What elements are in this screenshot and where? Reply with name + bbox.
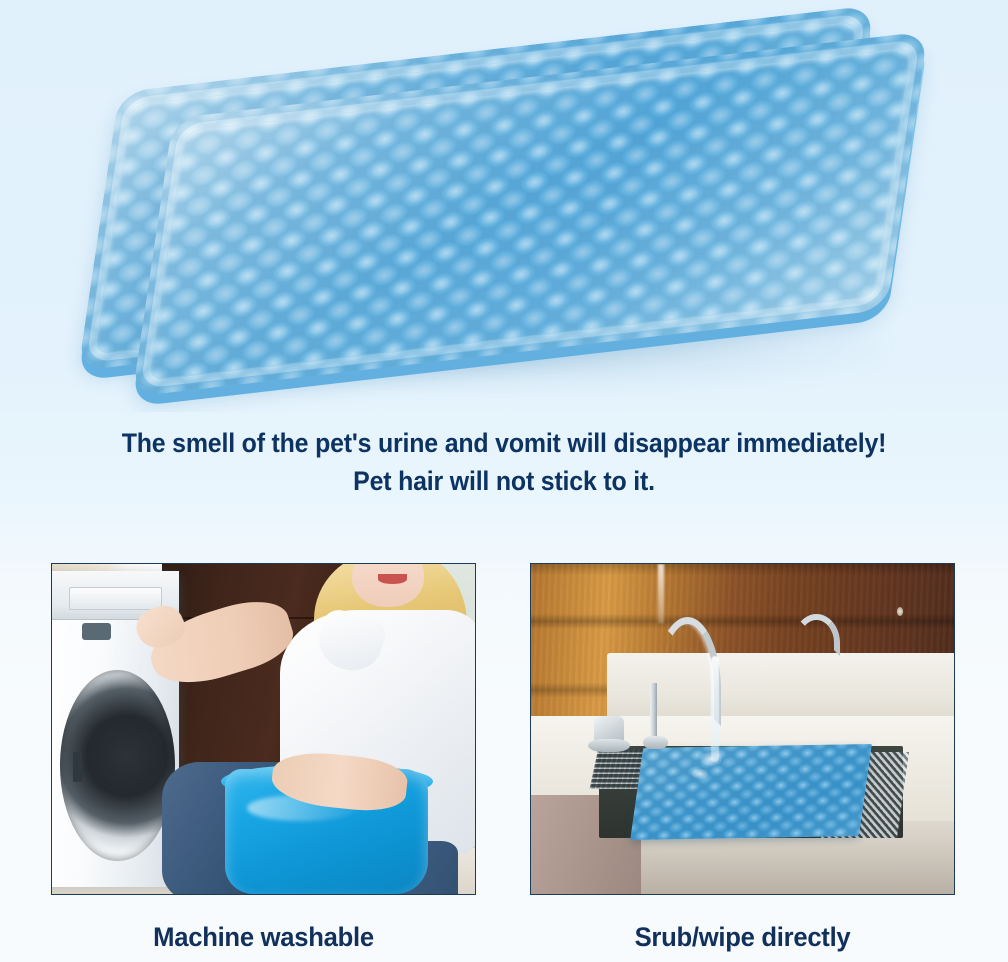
photo-washing-machine xyxy=(52,564,475,894)
hero-product-image xyxy=(0,0,1008,412)
headline-line-1: The smell of the pet's urine and vomit w… xyxy=(30,424,978,462)
cooling-mat-in-sink xyxy=(630,744,872,840)
sink-mat-quilt-pattern xyxy=(630,744,872,840)
panel-machine-washable xyxy=(51,563,476,895)
running-water-stream xyxy=(711,656,719,762)
washing-machine-knob xyxy=(82,623,112,640)
water-stream-upper xyxy=(658,564,664,623)
headline: The smell of the pet's urine and vomit w… xyxy=(30,424,978,500)
detergent-drawer xyxy=(69,587,162,610)
faucet-handle-base xyxy=(588,739,630,752)
faucet-stem xyxy=(650,683,657,742)
faucet-base xyxy=(643,736,668,749)
feature-panels xyxy=(0,563,1008,895)
washing-machine-door-latch xyxy=(73,752,82,782)
caption-scrub-wipe: Srub/wipe directly xyxy=(541,920,945,954)
mat-stage xyxy=(0,0,1008,412)
woman-smile xyxy=(378,574,408,584)
panel-scrub-wipe xyxy=(530,563,955,895)
caption-machine-washable: Machine washable xyxy=(62,920,466,954)
product-infographic: The smell of the pet's urine and vomit w… xyxy=(0,0,1008,962)
headline-line-2: Pet hair will not stick to it. xyxy=(30,462,978,500)
water-splash-secondary xyxy=(692,769,708,779)
photo-sink-rinse xyxy=(531,564,954,894)
